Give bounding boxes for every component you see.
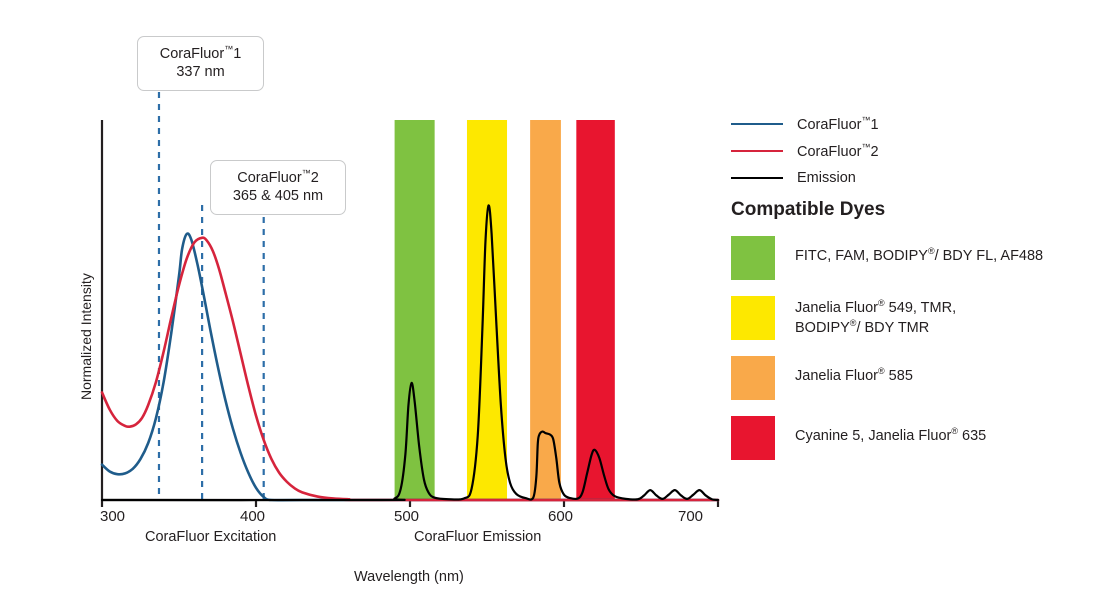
series-legend: CoraFluor™1 CoraFluor™2 Emission [731,110,1091,191]
compatible-dyes-title: Compatible Dyes [731,199,885,221]
legend-item-corafluor-2: CoraFluor™2 [731,137,1091,164]
x-tick-600: 600 [548,508,573,525]
dye-swatch [731,296,775,340]
callout-2-title: CoraFluor™2 [223,168,333,187]
dye-label: Janelia Fluor® 549, TMR, BODIPY®/ BDY TM… [795,296,956,337]
legend-item-corafluor-1: CoraFluor™1 [731,110,1091,137]
x-tick-700: 700 [678,508,703,525]
callout-corafluor-2: CoraFluor™2 365 & 405 nm [210,160,346,215]
compatible-dyes-list: FITC, FAM, BODIPY®/ BDY FL, AF488 Janeli… [731,236,1101,474]
excitation-marker-lines [159,92,264,500]
x-tick-400: 400 [240,508,265,525]
legend-label: Emission [797,170,856,186]
dye-band-green [395,120,435,500]
callout-1-title: CoraFluor™1 [150,44,251,63]
x-axis-label: Wavelength (nm) [354,569,464,585]
legend-swatch-line [731,177,783,179]
dye-item-green: FITC, FAM, BODIPY®/ BDY FL, AF488 [731,236,1101,280]
dye-label: Janelia Fluor® 585 [795,356,913,386]
legend-label: CoraFluor™2 [797,142,879,160]
dye-band-yellow [467,120,507,500]
dye-label: FITC, FAM, BODIPY®/ BDY FL, AF488 [795,236,1043,266]
legend-item-emission: Emission [731,164,1091,191]
x-tick-500: 500 [394,508,419,525]
excitation-range-label: CoraFluor Excitation [145,529,276,545]
dye-swatch [731,236,775,280]
callout-1-value: 337 nm [150,63,251,82]
dye-label: Cyanine 5, Janelia Fluor® 635 [795,416,986,446]
callout-corafluor-1: CoraFluor™1 337 nm [137,36,264,91]
legend-label: CoraFluor™1 [797,115,879,133]
legend-swatch-line [731,123,783,125]
dye-item-orange: Janelia Fluor® 585 [731,356,1101,400]
legend-swatch-line [731,150,783,152]
dye-item-yellow: Janelia Fluor® 549, TMR, BODIPY®/ BDY TM… [731,296,1101,340]
dye-swatch [731,356,775,400]
x-tick-300: 300 [100,508,125,525]
dye-band-red [576,120,615,500]
dye-item-red: Cyanine 5, Janelia Fluor® 635 [731,416,1101,460]
dye-swatch [731,416,775,460]
dye-band-orange [530,120,561,500]
y-axis-label: Normalized Intensity [78,273,94,400]
emission-range-label: CoraFluor Emission [414,529,541,545]
callout-2-value: 365 & 405 nm [223,187,333,206]
